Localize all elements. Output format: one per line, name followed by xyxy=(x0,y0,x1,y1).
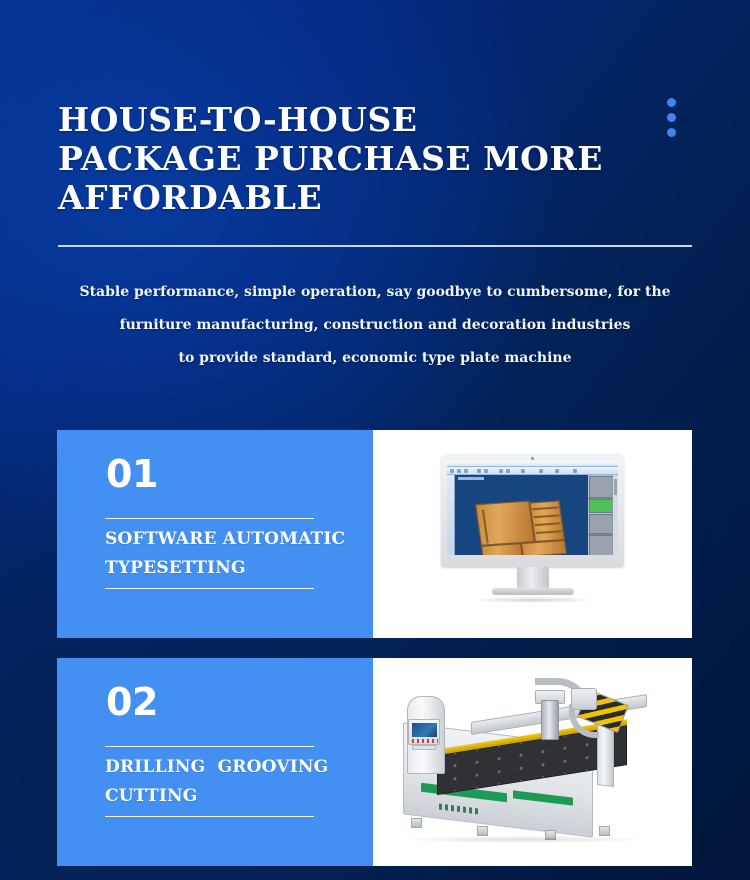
monitor-illustration xyxy=(373,430,692,638)
software-tool-rail xyxy=(447,475,455,555)
feature-card-number: 01 xyxy=(106,455,158,493)
spindle xyxy=(541,700,559,740)
toolbar-button-icon xyxy=(477,469,481,473)
cabinet-3d-model xyxy=(475,498,569,555)
software-scrollbar[interactable] xyxy=(612,475,618,555)
feature-card-image-panel xyxy=(373,658,692,866)
promo-banner: HOUSE-TO-HOUSE PACKAGE PURCHASE MORE AFF… xyxy=(0,0,750,880)
subtitle-line-1: Stable performance, simple operation, sa… xyxy=(58,276,692,309)
toolbar-button-icon xyxy=(573,469,577,473)
toolbar-button-icon xyxy=(484,469,488,473)
dot-icon-1 xyxy=(667,98,676,107)
monitor-stand-base xyxy=(492,588,574,595)
viewport-label xyxy=(458,477,484,480)
feature-card-title-block: SOFTWARE AUTOMATIC TYPESETTING xyxy=(105,518,314,589)
tool-changer-body xyxy=(571,688,597,710)
software-3d-viewport xyxy=(455,475,587,555)
machine-shadow xyxy=(405,836,643,843)
machine-foot xyxy=(599,826,610,836)
toolbar-button-icon xyxy=(499,469,503,473)
webcam-icon xyxy=(531,457,534,460)
subtitle: Stable performance, simple operation, sa… xyxy=(58,276,692,375)
software-toolbar xyxy=(447,467,618,475)
feature-card-title: SOFTWARE AUTOMATIC TYPESETTING xyxy=(105,519,314,588)
headline-line-2: PACKAGE PURCHASE MORE xyxy=(58,139,658,178)
subtitle-line-3: to provide standard, economic type plate… xyxy=(58,342,692,375)
monitor-bezel xyxy=(441,454,624,567)
header-divider xyxy=(58,245,692,247)
toolbar-button-icon xyxy=(464,469,468,473)
toolbar-button-icon xyxy=(521,469,525,473)
monitor-stand-neck xyxy=(517,567,549,589)
monitor-shadow xyxy=(471,597,595,603)
toolbar-button-icon xyxy=(450,469,454,473)
hmi-support-arm xyxy=(412,745,436,750)
subtitle-line-2: furniture manufacturing, construction an… xyxy=(58,309,692,342)
machine-foot xyxy=(477,826,488,836)
toolbar-button-icon xyxy=(539,469,543,473)
title-rule-top xyxy=(105,518,314,519)
three-dots-decoration-icon xyxy=(667,98,679,137)
feature-card-number: 02 xyxy=(106,683,158,721)
feature-card-image-panel xyxy=(373,430,692,638)
dot-icon-2 xyxy=(667,113,676,122)
feature-card[interactable]: 02 DRILLING GROOVING CUTTING xyxy=(57,658,692,866)
toolbar-button-icon xyxy=(555,469,559,473)
feature-card-title-block: DRILLING GROOVING CUTTING xyxy=(105,746,314,817)
feature-card-text-panel: 01 SOFTWARE AUTOMATIC TYPESETTING xyxy=(57,430,373,638)
monitor-screen xyxy=(447,461,618,555)
toolbar-button-icon xyxy=(457,469,461,473)
hmi-screen xyxy=(412,723,437,738)
hmi-panel xyxy=(408,719,440,745)
feature-card[interactable]: 01 SOFTWARE AUTOMATIC TYPESETTING xyxy=(57,430,692,638)
page-title: HOUSE-TO-HOUSE PACKAGE PURCHASE MORE AFF… xyxy=(58,100,658,217)
dot-icon-3 xyxy=(667,128,676,137)
feature-card-text-panel: 02 DRILLING GROOVING CUTTING xyxy=(57,658,373,866)
control-cabinet xyxy=(407,696,445,774)
feature-card-title: DRILLING GROOVING CUTTING xyxy=(105,747,314,816)
cnc-machine-illustration xyxy=(373,658,692,866)
title-rule-bottom xyxy=(105,588,314,589)
title-rule-bottom xyxy=(105,816,314,817)
cnc-machine xyxy=(385,678,681,848)
hmi-buttons[interactable] xyxy=(412,739,438,743)
title-rule-top xyxy=(105,746,314,747)
headline-line-3: AFFORDABLE xyxy=(58,178,658,217)
toolbar-button-icon xyxy=(506,469,510,473)
headline-line-1: HOUSE-TO-HOUSE xyxy=(58,100,658,139)
machine-foot xyxy=(411,818,422,828)
